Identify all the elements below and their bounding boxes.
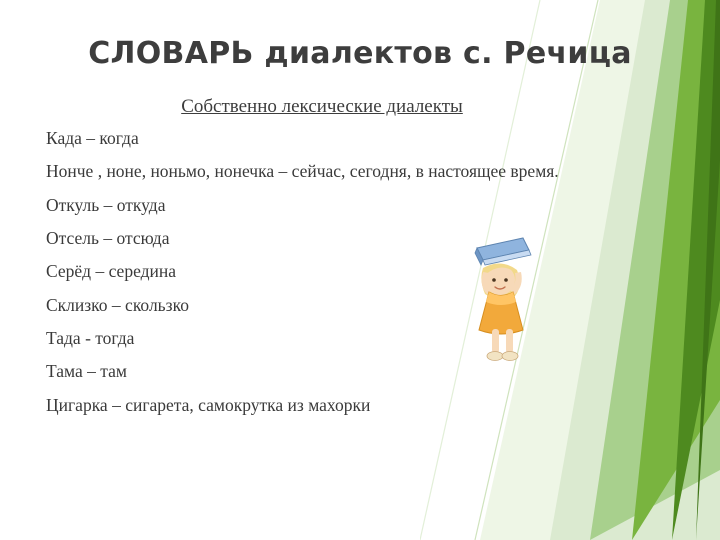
dictionary-entry: Склизко – скользко	[38, 295, 476, 316]
slide-body: Собственно лексические диалекты Када – к…	[38, 96, 686, 428]
dictionary-entry: Откуль – откуда	[38, 195, 476, 216]
dictionary-entry: Отсель – отсюда	[38, 228, 476, 249]
dictionary-entry: Тада - тогда	[38, 328, 476, 349]
dictionary-entry: Тама – там	[38, 361, 476, 382]
book-icon	[475, 238, 531, 265]
dictionary-entry: Нонче , ноне, ноньмо, нонечка – сейчас, …	[38, 161, 681, 182]
dictionary-entry: Цигарка – сигарета, самокрутка из махорк…	[38, 395, 681, 416]
dictionary-entry: Серёд – середина	[38, 261, 476, 282]
dictionary-entry: Када – когда	[38, 128, 476, 149]
slide-title: СЛОВАРЬ диалектов с. Речица	[28, 36, 692, 71]
girl-with-book-clipart	[455, 228, 575, 378]
body-subtitle: Собственно лексические диалекты	[38, 96, 686, 118]
slide: СЛОВАРЬ диалектов с. Речица Собственно л…	[0, 0, 720, 540]
